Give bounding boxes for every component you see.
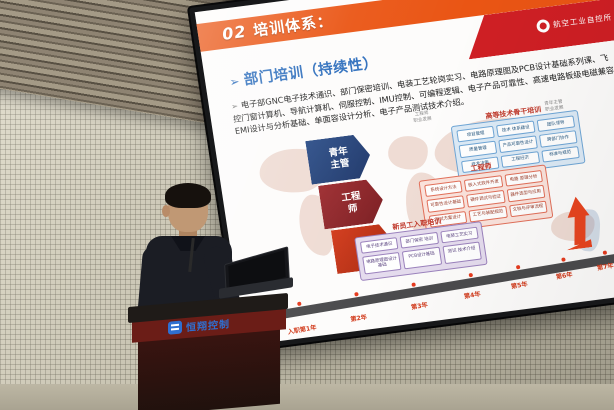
cell: 技术 体系建设 — [496, 121, 535, 138]
cell: 工艺与装配规范 — [469, 206, 508, 223]
cell: 电子技术通识 — [360, 237, 399, 254]
group-cells-red: 系统设计方法 嵌入式软件开发 电路 原理分析 可靠性设计基础 硬件调试与验证 器… — [424, 170, 548, 228]
conference-room-scene: 02培训体系： 航空工业自控所 ➢部门培训（持续性） ➢电子部GNC电子技术通识… — [0, 0, 614, 410]
cell: 器件选型与应用 — [506, 185, 545, 202]
cell: 部门保密 培训 — [400, 232, 439, 249]
timeline-tick — [297, 302, 302, 307]
floor-strip — [0, 384, 614, 410]
red-arrow-running-figure-icon — [553, 194, 608, 261]
timeline-tick — [603, 250, 608, 255]
timeline-label: 第5年 — [510, 279, 528, 291]
hengxiang-blue-mark-icon — [168, 320, 182, 334]
cell: 测试 技术介绍 — [442, 242, 482, 264]
cell: 嵌入式软件开发 — [464, 175, 503, 192]
cell: 跨部门协作 — [539, 131, 578, 148]
timeline-label: 第4年 — [463, 289, 481, 301]
timeline-label: 第6年 — [555, 269, 573, 281]
cell: 电路原理图设计 基础 — [362, 252, 402, 274]
cell: 产品可靠性设计 — [499, 136, 538, 153]
cell: 团队领导 — [536, 115, 575, 132]
group-cells-purple: 电子技术通识 部门保密 培训 电装工艺实习 电路原理图设计 基础 PCB设计基础… — [360, 227, 482, 275]
timeline-label: 第2年 — [350, 312, 368, 324]
timeline-label: 入职第1年 — [287, 322, 317, 336]
cell: 电路 原理分析 — [504, 170, 543, 187]
cell: 电装工艺实习 — [440, 227, 479, 244]
presenter-hair — [165, 183, 211, 208]
cell: 文档与评审流程 — [509, 200, 548, 217]
float-note-engineer: 工程师职业发展 — [412, 111, 432, 124]
timeline-label: 第3年 — [410, 300, 428, 312]
podium: 恒翔控制 — [128, 300, 288, 410]
slide-header-number: 02 — [221, 22, 248, 44]
cell: PCB设计基础 — [402, 247, 442, 269]
cell: 质量管理 — [459, 141, 498, 158]
avic-circle-logo-icon — [535, 19, 550, 34]
cell: 系统设计方法 — [424, 180, 463, 197]
cell: 可靠性设计基础 — [426, 196, 465, 213]
timeline-tick — [468, 273, 473, 278]
bullet-arrow-icon: ➢ — [229, 74, 242, 89]
group-title-red: 工程师 — [470, 161, 492, 174]
presenter-ear — [162, 205, 170, 217]
timeline-label: 第7年 — [596, 261, 614, 273]
cell: 标准与规范 — [541, 146, 580, 163]
cell: 硬件调试与验证 — [466, 190, 505, 207]
cell: 项目管理 — [456, 126, 495, 143]
body-bullet-arrow-icon: ➢ — [230, 101, 238, 112]
